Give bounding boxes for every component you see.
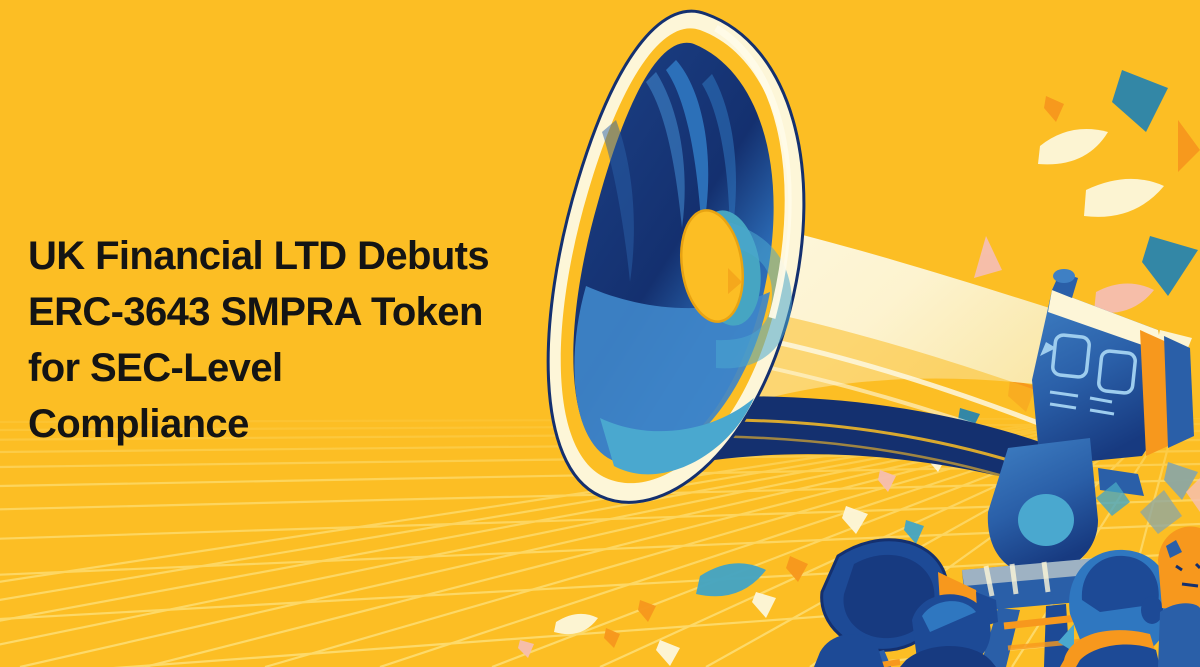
headline: UK Financial LTD Debuts ERC-3643 SMPRA T… — [28, 228, 628, 452]
headline-line-3: for SEC-Level — [28, 340, 628, 396]
small-handheld-megaphone — [822, 540, 998, 667]
headline-line-1: UK Financial LTD Debuts — [28, 228, 628, 284]
megaphone-tripod — [962, 438, 1150, 667]
announcement-banner: UK Financial LTD Debuts ERC-3643 SMPRA T… — [0, 0, 1200, 667]
headline-line-4: Compliance — [28, 396, 628, 452]
crowd-figures — [814, 478, 1200, 667]
megaphone-head-unit — [1032, 269, 1194, 466]
megaphone-body — [664, 212, 1092, 486]
horn-inner-mouthpiece — [674, 206, 792, 368]
headline-line-2: ERC-3643 SMPRA Token — [28, 284, 628, 340]
